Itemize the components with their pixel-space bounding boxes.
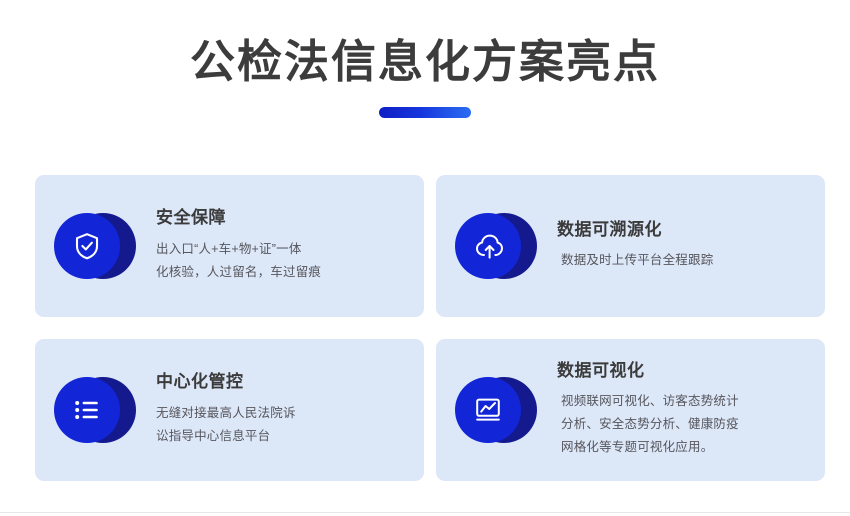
bullet-list-icon xyxy=(71,396,103,424)
card-description: 无缝对接最高人民法院诉 讼指导中心信息平台 xyxy=(156,402,406,448)
bottom-divider xyxy=(0,512,850,513)
card-description: 数据及时上传平台全程跟踪 xyxy=(557,249,807,272)
page-title: 公检法信息化方案亮点 xyxy=(0,36,850,88)
feature-card-centralized-control[interactable]: 中心化管控 无缝对接最高人民法院诉 讼指导中心信息平台 xyxy=(35,339,424,481)
card-text-block: 数据可视化 视频联网可视化、访客态势统计 分析、安全态势分析、健康防疫 网格化等… xyxy=(551,361,807,460)
card-title: 中心化管控 xyxy=(156,372,406,392)
card-title: 数据可溯源化 xyxy=(557,220,807,240)
card-title: 数据可视化 xyxy=(557,361,807,381)
icon-container xyxy=(453,210,545,282)
shield-check-icon xyxy=(71,230,103,262)
card-description: 出入口“人+车+物+证”一体 化核验，人过留名，车过留痕 xyxy=(156,238,406,284)
chart-monitor-icon xyxy=(472,395,504,425)
slide-page: 公检法信息化方案亮点 安全保障 出入口“人+车+物+证”一体 化核验， xyxy=(0,0,850,516)
card-title: 安全保障 xyxy=(156,208,406,228)
feature-card-data-visualization[interactable]: 数据可视化 视频联网可视化、访客态势统计 分析、安全态势分析、健康防疫 网格化等… xyxy=(436,339,825,481)
icon-container xyxy=(52,374,144,446)
icon-container xyxy=(52,210,144,282)
card-text-block: 安全保障 出入口“人+车+物+证”一体 化核验，人过留名，车过留痕 xyxy=(150,208,406,284)
title-underline-bar xyxy=(379,107,471,118)
card-description: 视频联网可视化、访客态势统计 分析、安全态势分析、健康防疫 网格化等专题可视化应… xyxy=(557,390,807,459)
feature-card-grid: 安全保障 出入口“人+车+物+证”一体 化核验，人过留名，车过留痕 xyxy=(35,175,815,481)
cloud-upload-icon xyxy=(471,230,505,262)
icon-circle xyxy=(455,213,521,279)
card-text-block: 数据可溯源化 数据及时上传平台全程跟踪 xyxy=(551,220,807,273)
icon-circle xyxy=(54,213,120,279)
feature-card-data-traceability[interactable]: 数据可溯源化 数据及时上传平台全程跟踪 xyxy=(436,175,825,317)
icon-circle xyxy=(54,377,120,443)
card-text-block: 中心化管控 无缝对接最高人民法院诉 讼指导中心信息平台 xyxy=(150,372,406,448)
page-header: 公检法信息化方案亮点 xyxy=(0,0,850,118)
feature-card-security[interactable]: 安全保障 出入口“人+车+物+证”一体 化核验，人过留名，车过留痕 xyxy=(35,175,424,317)
icon-container xyxy=(453,374,545,446)
icon-circle xyxy=(455,377,521,443)
